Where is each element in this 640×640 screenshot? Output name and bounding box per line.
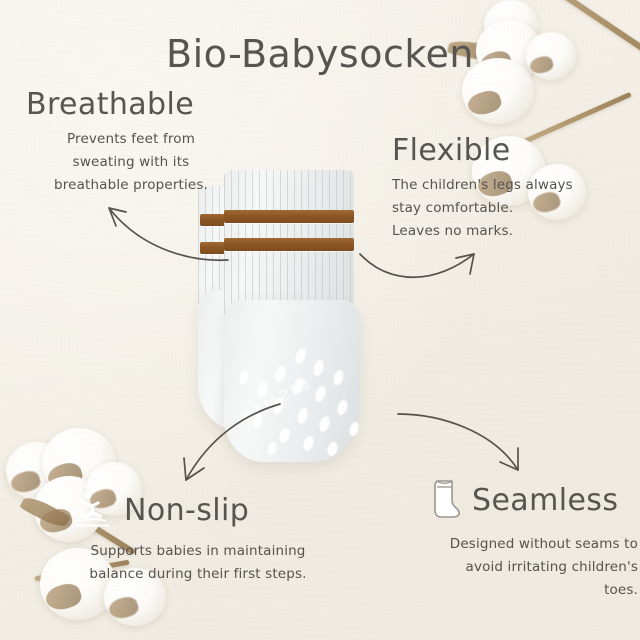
feature-breathable: Breathable Prevents feet from sweating w… [26, 88, 236, 198]
feature-flexible-line: The children's legs always [392, 174, 636, 197]
feature-breathable-heading: Breathable [26, 88, 236, 121]
feature-breathable-line: breathable properties. [26, 174, 236, 197]
feature-seamless: Seamless Designed without seams to avoid… [428, 476, 640, 603]
cotton-husk [19, 493, 71, 531]
feature-flexible-heading: Flexible [392, 134, 636, 167]
feature-seamless-line: Designed without seams to [428, 533, 638, 556]
feature-nonslip-line: Supports babies in maintaining [72, 540, 324, 563]
slipping-person-icon [72, 487, 114, 533]
feature-seamless-line: avoid irritating children's toes. [428, 556, 638, 602]
feature-flexible: Flexible The children's legs always stay… [392, 134, 636, 244]
feature-flexible-line: stay comfortable. [392, 197, 636, 220]
feature-nonslip-line: balance during their first steps. [72, 563, 324, 586]
feature-seamless-heading: Seamless [472, 484, 618, 517]
baby-sock-icon [428, 476, 464, 524]
feature-nonslip-body: Supports babies in maintaining balance d… [72, 540, 324, 586]
feature-flexible-line: Leaves no marks. [392, 220, 636, 243]
feature-breathable-line: sweating with its [26, 151, 236, 174]
cotton-boll [6, 442, 68, 500]
feature-seamless-body: Designed without seams to avoid irritati… [428, 533, 638, 603]
sock-front: DISMYE [224, 170, 354, 460]
page-title: Bio-Babysocken [0, 32, 640, 76]
feature-nonslip-heading: Non-slip [124, 494, 249, 527]
feature-breathable-body: Prevents feet from sweating with its bre… [26, 128, 236, 198]
feature-flexible-body: The children's legs always stay comforta… [392, 174, 636, 244]
product-socks-image: DISMYE [196, 168, 396, 478]
feature-nonslip: Non-slip Supports babies in maintaining … [72, 487, 324, 586]
product-infographic-poster: DISMYE Bio-Babysocken Breathable Prevent… [0, 0, 640, 640]
feature-breathable-line: Prevents feet from [26, 128, 236, 151]
